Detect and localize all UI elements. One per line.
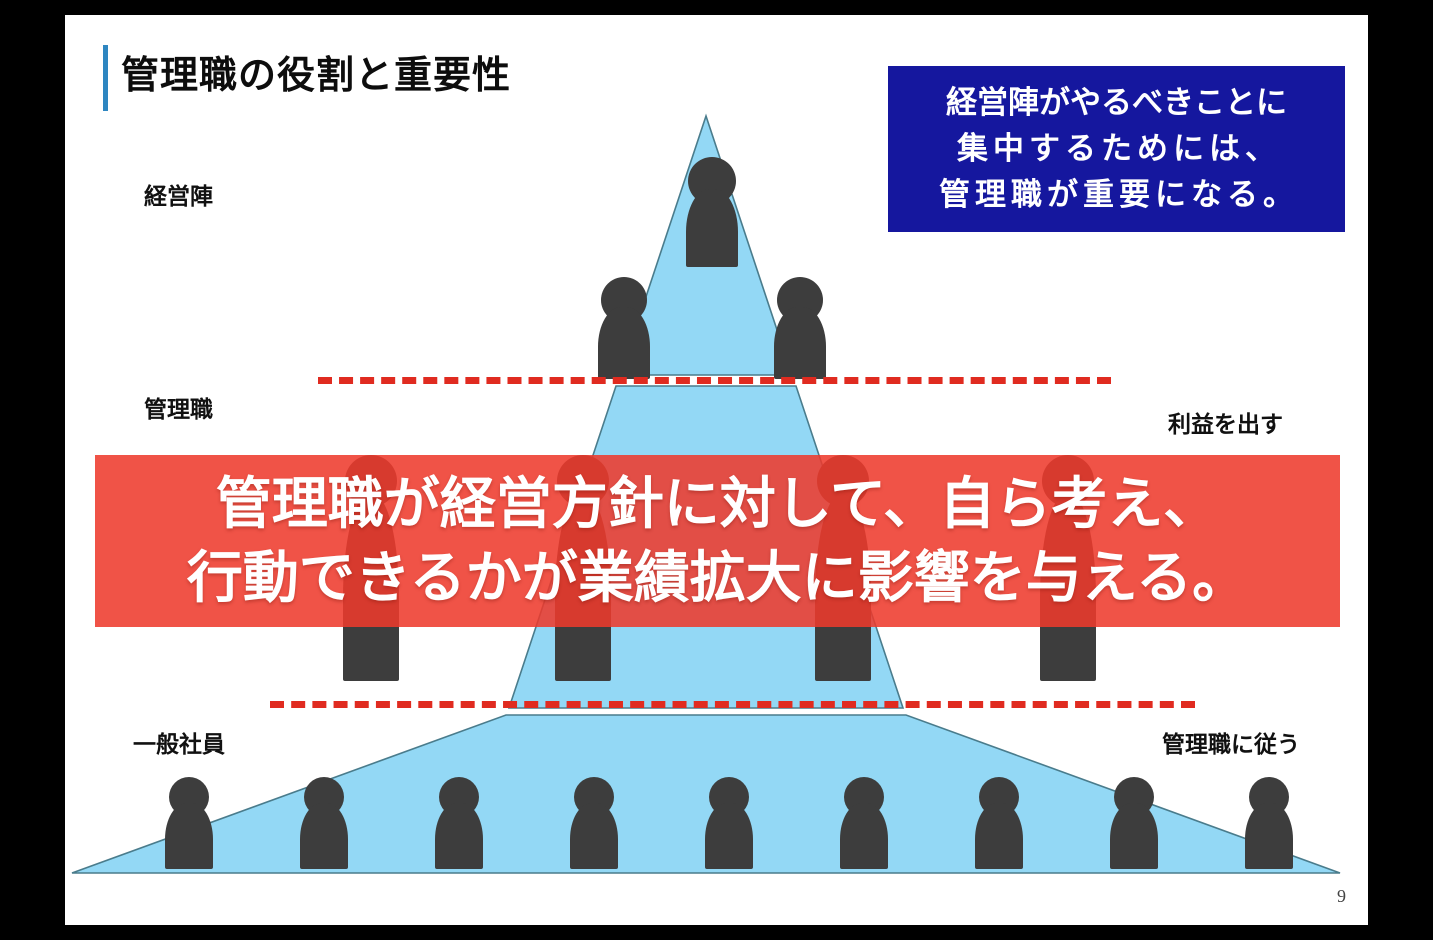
callout-blue-line-1: 経営陣がやるべきことに <box>946 80 1287 126</box>
divider-managers-employees <box>270 701 1195 708</box>
slide-canvas: 管理職の役割と重要性 経営陣 管理職 利益を出す 一般社員 管理職に従う 経営陣… <box>65 15 1368 925</box>
tier-label-managers-duty: 利益を出す <box>1168 405 1283 439</box>
title-text: 管理職の役割と重要性 <box>121 51 511 101</box>
person-body-icon <box>1245 803 1293 869</box>
callout-blue-line-2: 集中するためには、 <box>952 126 1281 172</box>
callout-red-line-1: 管理職が経営方針に対して、自ら考え、 <box>216 467 1220 541</box>
person-body-icon <box>300 803 348 869</box>
person-figure <box>1110 777 1158 869</box>
person-figure <box>435 777 483 869</box>
person-figure <box>686 157 738 267</box>
person-body-icon <box>686 189 738 267</box>
callout-red: 管理職が経営方針に対して、自ら考え、 行動できるかが業績拡大に影響を与える。 <box>95 455 1340 627</box>
divider-executives-managers <box>318 377 1111 384</box>
person-body-icon <box>570 803 618 869</box>
tier-label-executives: 経営陣 <box>144 177 213 211</box>
callout-blue: 経営陣がやるべきことに 集中するためには、 管理職が重要になる。 <box>888 66 1345 232</box>
page-title: 管理職の役割と重要性 <box>103 37 723 115</box>
person-figure <box>774 277 826 379</box>
callout-red-line-2: 行動できるかが業績拡大に影響を与える。 <box>187 541 1248 615</box>
person-body-icon <box>435 803 483 869</box>
person-body-icon <box>774 307 826 379</box>
person-figure <box>300 777 348 869</box>
person-body-icon <box>975 803 1023 869</box>
title-accent-bar <box>103 45 108 111</box>
person-body-icon <box>1110 803 1158 869</box>
slide-stage: 管理職の役割と重要性 経営陣 管理職 利益を出す 一般社員 管理職に従う 経営陣… <box>0 0 1433 940</box>
person-body-icon <box>705 803 753 869</box>
person-figure <box>840 777 888 869</box>
person-body-icon <box>165 803 213 869</box>
person-figure <box>570 777 618 869</box>
tier-label-managers: 管理職 <box>144 390 213 424</box>
person-figure <box>598 277 650 379</box>
tier-label-employees: 一般社員 <box>133 725 225 759</box>
person-figure <box>165 777 213 869</box>
tier-label-employees-duty: 管理職に従う <box>1162 725 1300 759</box>
person-figure <box>705 777 753 869</box>
person-body-icon <box>840 803 888 869</box>
person-figure <box>975 777 1023 869</box>
person-figure <box>1245 777 1293 869</box>
page-number: 9 <box>1337 886 1346 907</box>
person-body-icon <box>598 307 650 379</box>
callout-blue-line-3: 管理職が重要になる。 <box>934 172 1299 218</box>
